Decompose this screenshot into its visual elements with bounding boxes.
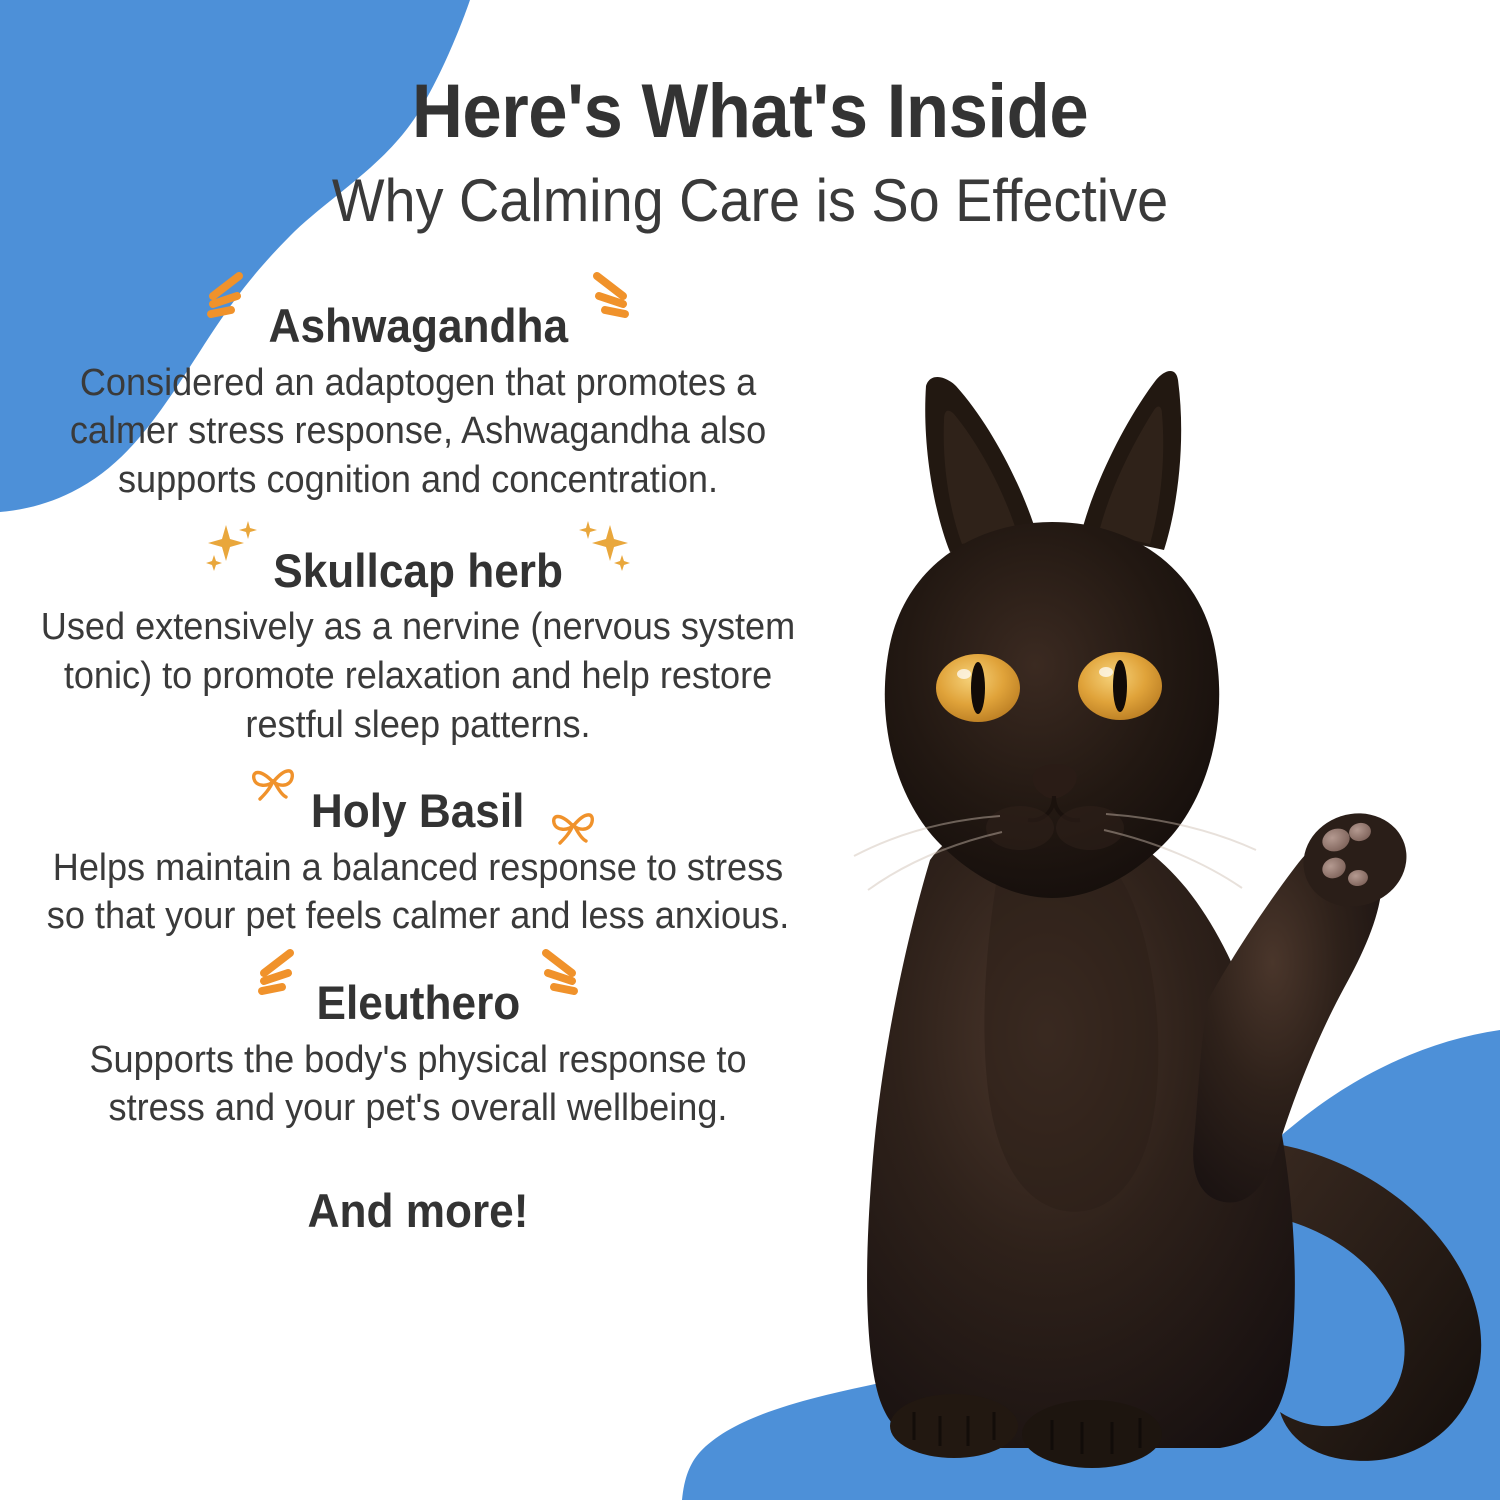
page-subtitle: Why Calming Care is So Effective [53,168,1448,234]
spark-burst-icon [530,947,588,999]
cat-head [854,371,1256,898]
ingredient-item-holy-basil: Holy Basil Helps maintain a balanced res… [18,785,818,941]
promo-graphic: Here's What's Inside Why Calming Care is… [0,0,1500,1500]
ingredient-heading-row: Ashwagandha [259,300,578,352]
ingredient-heading-row: Skullcap herb [264,545,572,597]
ingredient-item-eleuthero: Eleuthero Supports the body's physical r… [18,977,818,1133]
butterfly-doodle-icon [246,751,302,803]
ingredient-name: Holy Basil [311,785,525,837]
cat-eye-right [1078,652,1162,720]
spark-burst-icon [197,270,255,322]
ingredient-name: Ashwagandha [268,300,567,352]
ingredient-description: Supports the body's physical response to… [38,1036,798,1133]
cat-face [885,522,1219,898]
spark-burst-icon [248,947,306,999]
ingredient-heading-row: Holy Basil [304,785,531,837]
sparkle-stars-icon [202,515,264,573]
ingredient-name: Skullcap herb [273,545,563,597]
page-title: Here's What's Inside [53,72,1448,152]
ingredient-heading-row: Eleuthero [310,977,527,1029]
ingredient-description: Helps maintain a balanced response to st… [38,844,798,941]
ingredient-list: Ashwagandha Considered an adaptogen that… [18,300,818,1238]
header-block: Here's What's Inside Why Calming Care is… [0,72,1500,234]
cat-eye-left [936,654,1020,722]
ingredient-description: Considered an adaptogen that promotes a … [38,359,798,505]
ingredient-name: Eleuthero [316,977,520,1029]
ingredient-item-skullcap-herb: Skullcap herb Used extensively as a nerv… [18,545,818,750]
cat-photo [700,300,1500,1500]
sparkle-stars-icon [572,515,634,573]
spark-burst-icon [581,270,639,322]
and-more-label: And more! [42,1183,794,1238]
ingredient-description: Used extensively as a nervine (nervous s… [38,603,798,749]
ingredient-item-ashwagandha: Ashwagandha Considered an adaptogen that… [18,300,818,505]
